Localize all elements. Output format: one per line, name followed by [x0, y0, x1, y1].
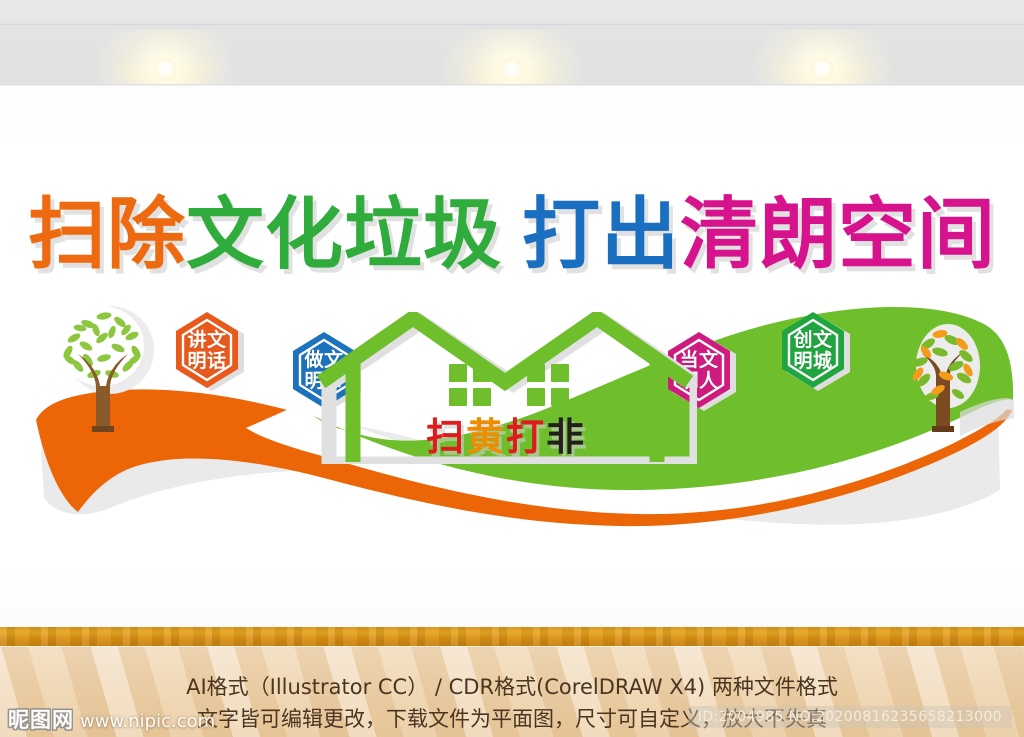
tree-autumn: [890, 318, 996, 436]
headline-segment-2: 文化垃圾: [186, 196, 502, 274]
hex-label-line1: 创文: [793, 330, 832, 351]
house-window-left: [449, 364, 491, 406]
house-slogan: 扫黄打非: [315, 406, 697, 461]
house-window-right: [527, 364, 569, 406]
floor-trim: [0, 627, 1024, 646]
watermark-left: 昵图网 www.nipic.com: [8, 704, 215, 734]
house-slogan-char-4: 非: [546, 406, 586, 461]
hex-badge-label: 创文 明城: [772, 299, 854, 402]
watermark-url: www.nipic.com: [80, 711, 215, 732]
watermark-id: ID:2004985 NO:20200816235658213000: [688, 706, 1012, 728]
scene-root: 扫除文化垃圾打出清朗空间: [0, 0, 1024, 737]
headline: 扫除文化垃圾打出清朗空间: [0, 196, 1024, 274]
watermark-logo: 昵图网: [8, 704, 74, 734]
house-slogan-char-1: 扫: [426, 406, 466, 461]
hex-badge-chuangwenmingcheng[interactable]: 创文 明城: [772, 310, 854, 402]
ceiling-seam: [0, 24, 1024, 25]
headline-segment-1: 扫除: [28, 196, 186, 274]
tree-canopy: [60, 306, 144, 386]
spotlight-bulb: [154, 58, 176, 80]
ceiling: [0, 0, 1024, 86]
floor-edge-line: [0, 646, 1024, 647]
spotlight-bulb: [501, 58, 523, 80]
hex-label-line2: 明城: [793, 351, 832, 372]
hex-label-line1: 讲文: [187, 330, 226, 351]
spotlight-bulb: [811, 58, 833, 80]
house-graphic: 扫黄打非: [315, 312, 697, 464]
headline-segment-4: 清朗空间: [680, 196, 996, 274]
tree-green: [44, 302, 164, 434]
house-slogan-char-3: 打: [506, 406, 546, 461]
house-slogan-char-2: 黄: [466, 406, 506, 461]
headline-segment-3: 打出: [522, 196, 680, 274]
caption-line-1: AI格式（Illustrator CC） / CDR格式(CorelDRAW X…: [186, 675, 838, 699]
hex-badge-label: 讲文 明话: [166, 299, 248, 402]
hex-label-line2: 明话: [187, 351, 226, 372]
hex-badge-jiangwenminghua[interactable]: 讲文 明话: [166, 310, 248, 402]
